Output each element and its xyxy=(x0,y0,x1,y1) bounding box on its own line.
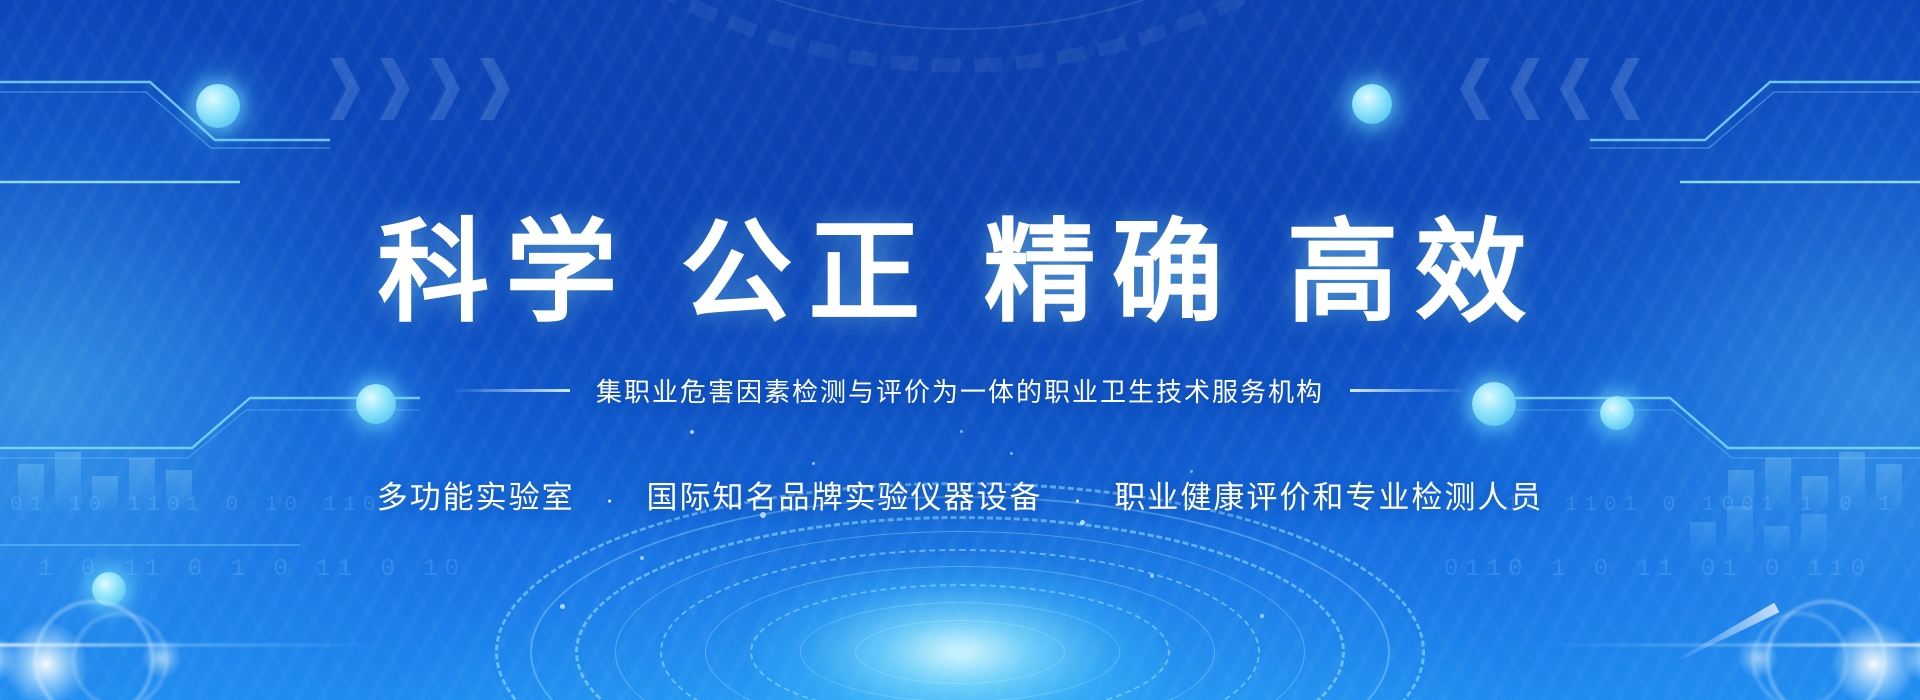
subtitle-rule-left xyxy=(452,389,570,392)
tagline-separator-0: · xyxy=(605,484,616,515)
tagline-item-1: 国际知名品牌实验仪器设备 xyxy=(647,480,1043,515)
page-title: 科学 公正 精确 高效 xyxy=(0,213,1920,334)
tagline-separator-1: · xyxy=(1073,484,1084,515)
tagline-item-2: 职业健康评价和专业检测人员 xyxy=(1114,480,1543,515)
subtitle-rule-right xyxy=(1350,389,1468,392)
hero-banner: 01 10 1101 0 10 110 1 0 11 0 1 0 11 0 10… xyxy=(0,0,1920,700)
subtitle-text: 集职业危害因素检测与评价为一体的职业卫生技术服务机构 xyxy=(596,372,1324,409)
tagline-item-0: 多功能实验室 xyxy=(377,480,575,515)
tagline-row: 多功能实验室 · 国际知名品牌实验仪器设备 · 职业健康评价和专业检测人员 xyxy=(0,472,1920,517)
subtitle-row: 集职业危害因素检测与评价为一体的职业卫生技术服务机构 xyxy=(0,372,1920,409)
